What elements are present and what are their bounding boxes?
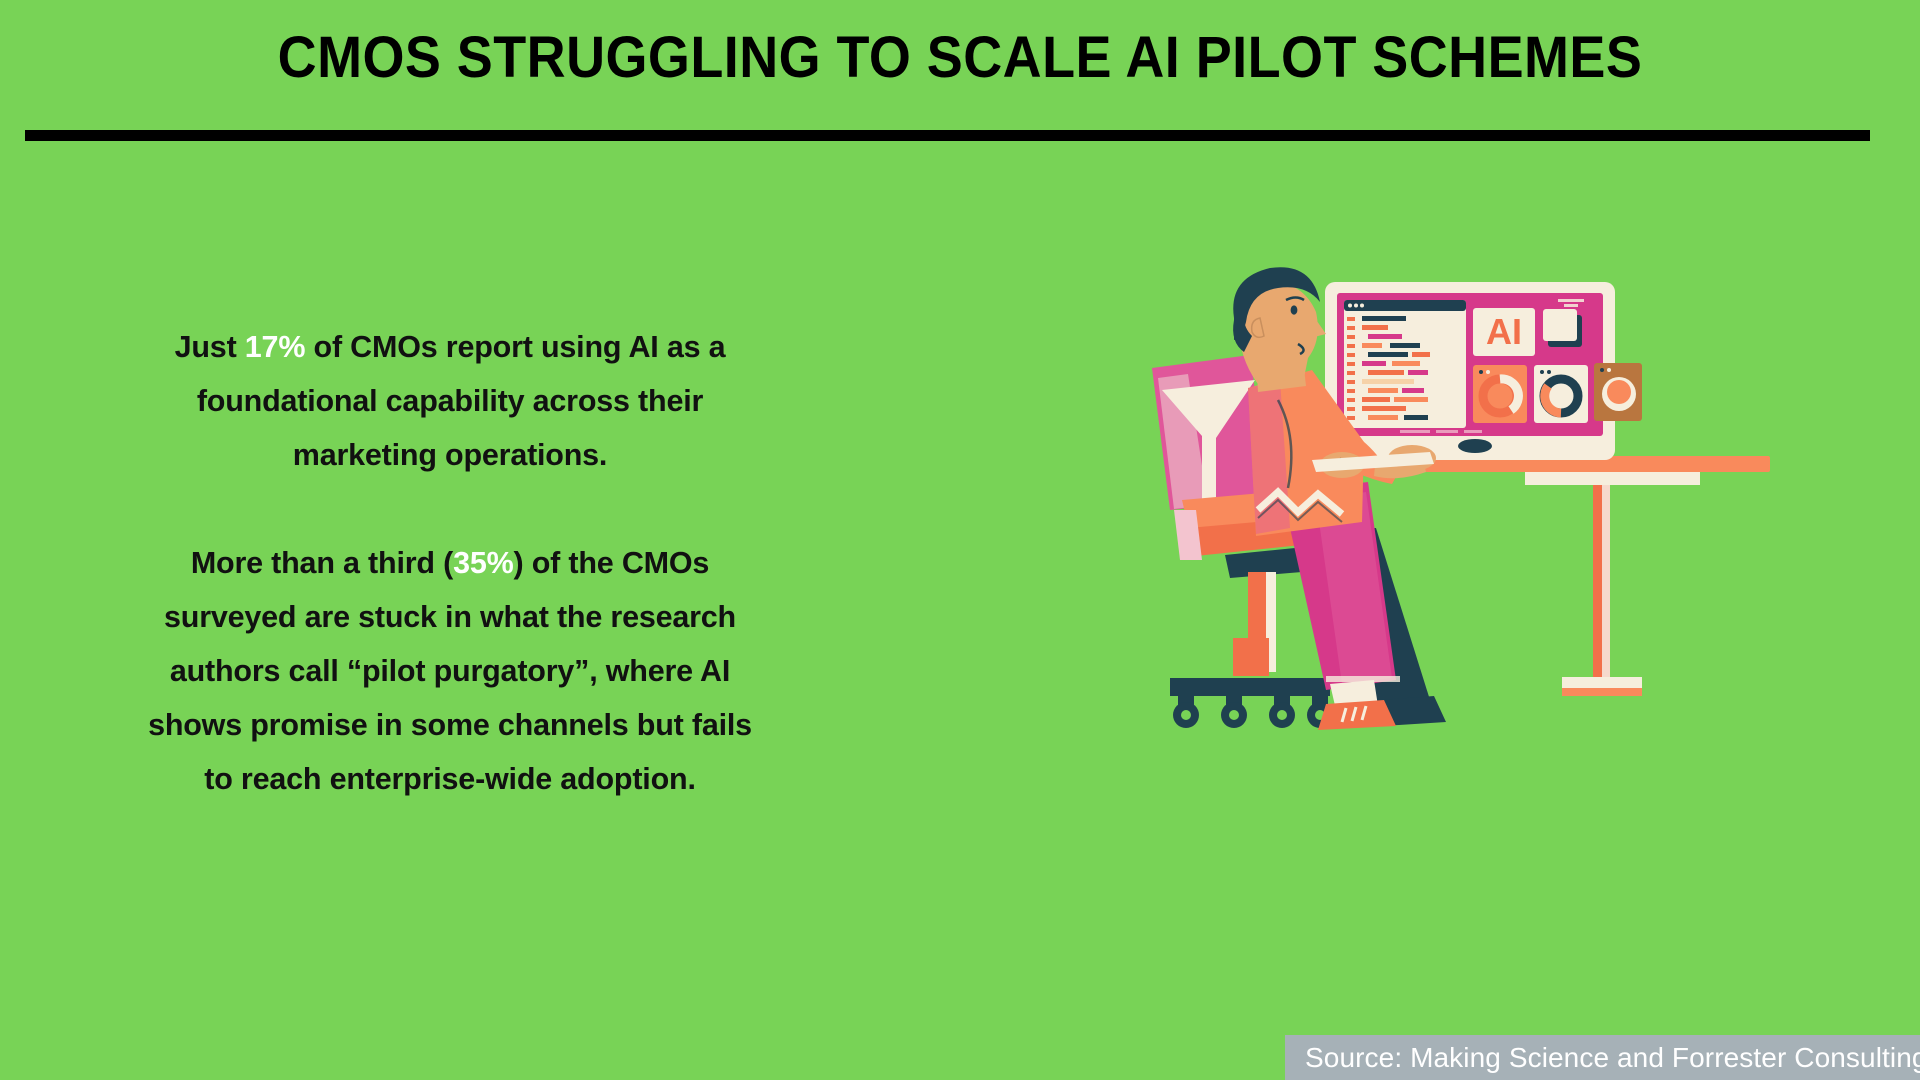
stat-paragraph-two: More than a third (35%) of the CMOs surv… [140, 536, 760, 806]
screen-donut-widget-2 [1534, 365, 1588, 423]
screen-card-tile [1543, 309, 1582, 347]
person-eye [1291, 305, 1298, 314]
desk-foot-base [1562, 688, 1642, 696]
paragraph-two-after: ) of the CMOs surveyed are stuck in what… [148, 546, 752, 796]
chair-cylinder-base [1233, 638, 1269, 676]
screen-ai-label: AI [1486, 311, 1522, 352]
screen-donut-widget-1 [1473, 365, 1527, 423]
desk-leg-highlight [1602, 485, 1610, 677]
caster-hub-1 [1181, 710, 1191, 720]
titlebar-dot-3 [1360, 304, 1364, 308]
chair-base-bar [1170, 678, 1330, 696]
desk-crossbar [1525, 472, 1700, 485]
title-block: CMOS STRUGGLING TO SCALE AI PILOT SCHEME… [0, 28, 1920, 89]
desk-foot-top [1562, 677, 1642, 688]
infographic-canvas: CMOS STRUGGLING TO SCALE AI PILOT SCHEME… [0, 0, 1920, 1080]
card-tile-front [1543, 309, 1577, 341]
source-attribution-bar: Source: Making Science and Forrester Con… [1285, 1035, 1920, 1080]
monitor-group: AI [1325, 282, 1642, 460]
source-text: Source: Making Science and Forrester Con… [1305, 1042, 1920, 1074]
mouse-group [1453, 439, 1497, 457]
caster-hub-2 [1229, 710, 1239, 720]
title-divider-rule [25, 130, 1870, 141]
illustration-svg: AI [1130, 260, 1810, 760]
stat-highlight-17: 17% [245, 330, 305, 364]
desk-worker-illustration: AI [1130, 260, 1810, 760]
stat-paragraph-one: Just 17% of CMOs report using AI as a fo… [140, 320, 760, 482]
screen-code-panel [1344, 300, 1466, 428]
stat-highlight-35: 35% [453, 546, 513, 580]
screen-donut-widget-3 [1594, 363, 1642, 421]
titlebar-dot-2 [1354, 304, 1358, 308]
titlebar-dot-1 [1348, 304, 1352, 308]
page-title: CMOS STRUGGLING TO SCALE AI PILOT SCHEME… [67, 28, 1853, 89]
paragraph-two-before: More than a third ( [191, 546, 453, 580]
mouse-body [1458, 439, 1492, 453]
screen-footer-marks [1400, 430, 1482, 433]
text-column: Just 17% of CMOs report using AI as a fo… [140, 320, 760, 806]
screen-ai-tile: AI [1473, 308, 1535, 356]
caster-hub-3 [1277, 710, 1287, 720]
person-front-shoe [1318, 700, 1396, 730]
paragraph-one-before: Just [175, 330, 245, 364]
person-nose [1310, 314, 1326, 338]
